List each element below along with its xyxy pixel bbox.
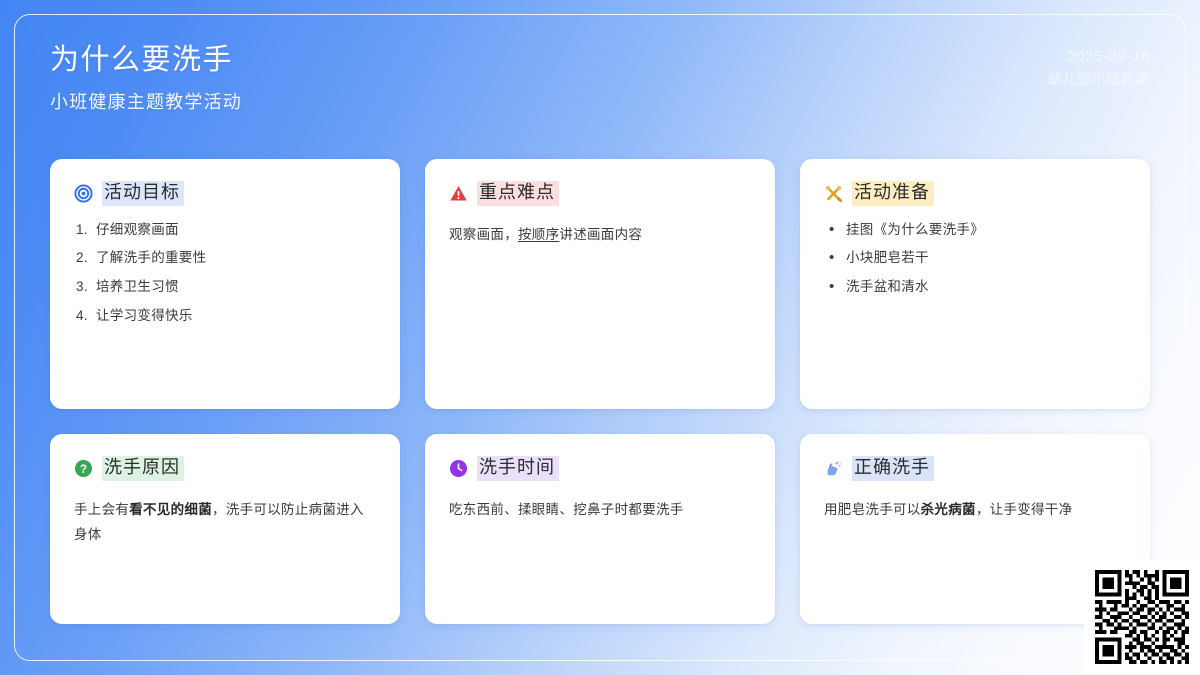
body-text-bold: 杀光病菌	[921, 502, 976, 517]
svg-text:?: ?	[80, 462, 87, 476]
list-item: 了解洗手的重要性	[74, 251, 376, 266]
page-title: 为什么要洗手	[50, 42, 1150, 78]
body-text-bold: 看不见的细菌	[129, 502, 212, 517]
list-item: 培养卫生习惯	[74, 280, 376, 295]
body-text-pre: 吃东西前、揉眼睛、挖鼻子时都要洗手	[449, 502, 684, 517]
card-title: 重点难点	[477, 181, 559, 206]
page-subtitle: 小班健康主题教学活动	[50, 88, 1150, 114]
warning-triangle-icon	[449, 184, 468, 203]
card-activity-preparation[interactable]: 活动准备 挂图《为什么要洗手》 小块肥皂若干 洗手盆和清水	[800, 159, 1150, 409]
card-header: 正确洗手	[824, 456, 1126, 481]
card-handwash-time[interactable]: 洗手时间 吃东西前、揉眼睛、挖鼻子时都要洗手	[425, 434, 775, 624]
card-title: 洗手时间	[477, 456, 559, 481]
list-item: 让学习变得快乐	[74, 309, 376, 324]
card-body: 观察画面，按顺序讲述画面内容	[449, 223, 751, 248]
goals-list: 仔细观察画面 了解洗手的重要性 培养卫生习惯 让学习变得快乐	[74, 223, 376, 324]
card-title: 活动目标	[102, 181, 184, 206]
slide-header: 为什么要洗手 小班健康主题教学活动 2025-09-18 幼儿园小班教案	[50, 42, 1150, 130]
card-header: 重点难点	[449, 181, 751, 206]
card-title: 活动准备	[852, 181, 934, 206]
header-meta: 2025-09-18 幼儿园小班教案	[1048, 46, 1150, 90]
card-header: 活动准备	[824, 181, 1126, 206]
list-item: 挂图《为什么要洗手》	[824, 223, 1126, 238]
card-body: 吃东西前、揉眼睛、挖鼻子时都要洗手	[449, 498, 751, 523]
list-item: 小块肥皂若干	[824, 251, 1126, 266]
card-header: 活动目标	[74, 181, 376, 206]
card-title: 洗手原因	[102, 456, 184, 481]
washing-hands-icon	[824, 459, 843, 478]
header-label: 幼儿园小班教案	[1048, 68, 1150, 90]
card-header: ? 洗手原因	[74, 456, 376, 481]
card-handwash-reason[interactable]: ? 洗手原因 手上会有看不见的细菌，洗手可以防止病菌进入身体	[50, 434, 400, 624]
card-header: 洗手时间	[449, 456, 751, 481]
card-title: 正确洗手	[852, 456, 934, 481]
target-icon	[74, 184, 93, 203]
body-text-underline: 按顺序	[518, 227, 559, 242]
header-date: 2025-09-18	[1048, 46, 1150, 68]
qr-code-icon	[1095, 570, 1189, 664]
body-text-post: ，让手变得干净	[976, 502, 1073, 517]
list-item: 洗手盆和清水	[824, 280, 1126, 295]
clock-icon	[449, 459, 468, 478]
preparation-list: 挂图《为什么要洗手》 小块肥皂若干 洗手盆和清水	[824, 223, 1126, 296]
body-text-pre: 手上会有	[74, 502, 129, 517]
body-text-post: 讲述画面内容	[559, 227, 642, 242]
body-text-pre: 观察画面，	[449, 227, 518, 242]
card-activity-goals[interactable]: 活动目标 仔细观察画面 了解洗手的重要性 培养卫生习惯 让学习变得快乐	[50, 159, 400, 409]
list-item: 仔细观察画面	[74, 223, 376, 238]
qr-code-container[interactable]	[1084, 559, 1200, 675]
card-grid: 活动目标 仔细观察画面 了解洗手的重要性 培养卫生习惯 让学习变得快乐 重	[50, 159, 1150, 624]
slide-root: 为什么要洗手 小班健康主题教学活动 2025-09-18 幼儿园小班教案 活动目…	[0, 0, 1200, 675]
body-text-pre: 用肥皂洗手可以	[824, 502, 921, 517]
tools-icon	[824, 184, 843, 203]
card-body: 用肥皂洗手可以杀光病菌，让手变得干净	[824, 498, 1126, 523]
card-key-difficulties[interactable]: 重点难点 观察画面，按顺序讲述画面内容	[425, 159, 775, 409]
card-body: 手上会有看不见的细菌，洗手可以防止病菌进入身体	[74, 498, 376, 548]
question-circle-icon: ?	[74, 459, 93, 478]
